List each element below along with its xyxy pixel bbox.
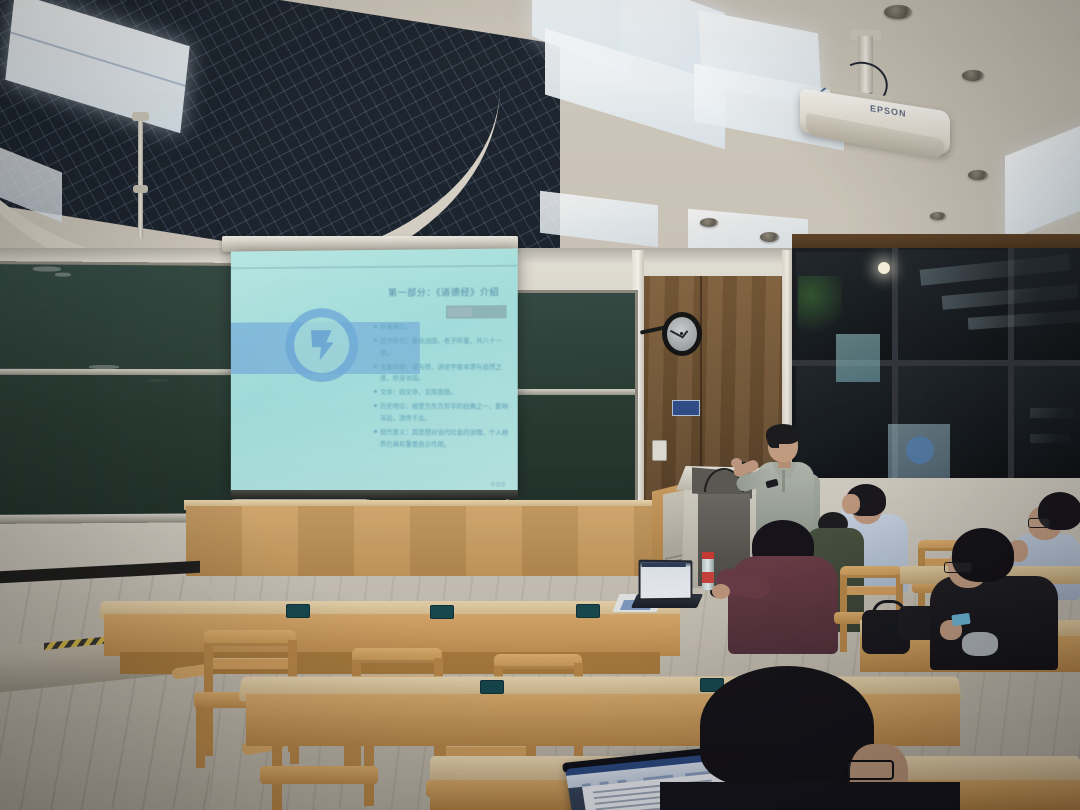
window-foliage	[798, 276, 842, 340]
slide-chip-label	[448, 307, 472, 316]
list-item: 作者简介。	[374, 321, 515, 333]
slide-footer: 道德经	[490, 481, 505, 488]
screen-hanger-rod-knob	[133, 185, 148, 193]
recessed-downlight-icon	[884, 5, 912, 19]
student-lightblue-hand	[842, 494, 860, 514]
slide-top-rule	[231, 265, 518, 270]
outdoor-lamp-icon	[878, 262, 890, 274]
glasses-icon	[1028, 518, 1050, 528]
window-wall	[792, 248, 1080, 478]
student-maroon-hand	[712, 584, 730, 599]
desk-power-outlet[interactable]	[480, 680, 504, 694]
list-item: 现代意义：其思想对当代社会的治理、个人修养仍具有重要启示作用。	[374, 427, 515, 452]
glasses-icon	[944, 562, 972, 573]
book-scroll-icon	[305, 328, 338, 362]
screen-hanger-rod	[138, 118, 143, 238]
window-pane	[1014, 366, 1080, 476]
light-switch[interactable]	[652, 440, 667, 461]
desk-power-outlet[interactable]	[286, 604, 310, 618]
recessed-downlight-icon	[968, 170, 988, 180]
recessed-downlight-icon	[700, 218, 718, 227]
window-slide-reflection	[836, 334, 880, 382]
list-item: 主要内容：道与德，讲述宇宙本源与自然之道，修身治国。	[374, 361, 515, 385]
cloth-item	[962, 632, 998, 656]
classroom-photo: EPSON	[0, 0, 1080, 810]
student-black-glasses-hair	[952, 528, 1014, 582]
clock-center-pin	[680, 332, 683, 335]
laptop-titlebar	[642, 563, 686, 567]
list-item: 成书年代：春秋战国，老子所著，共八十一章。	[374, 335, 515, 359]
slide-title: 第一部分：《道德经》介绍	[376, 285, 512, 299]
glasses-icon	[846, 760, 894, 780]
list-item: 文体：韵文体，言简意赅。	[374, 387, 515, 399]
water-bottle-label	[702, 572, 714, 583]
presenter-left-hand	[731, 458, 742, 468]
window-reflection	[1030, 434, 1070, 443]
projection-screen: 第一部分：《道德经》介绍 作者简介。 成书年代：春秋战国，老子所著，共八十一章。…	[231, 248, 518, 495]
recessed-downlight-icon	[760, 232, 779, 242]
presenter-hair-side	[767, 430, 779, 448]
recessed-downlight-icon	[930, 212, 946, 220]
ceiling-light-panel	[1005, 124, 1080, 241]
desk-power-outlet[interactable]	[430, 605, 454, 619]
window-reflection	[1030, 408, 1074, 418]
slide-logo-inner-circle	[294, 317, 349, 373]
screen-hanger-rod-cap	[132, 112, 149, 121]
student-laptop-torso	[660, 782, 960, 810]
slide-bullet-list: 作者简介。 成书年代：春秋战国，老子所著，共八十一章。 主要内容：道与德，讲述宇…	[374, 321, 515, 453]
desk-power-outlet[interactable]	[576, 604, 600, 618]
blackboard-right	[506, 290, 638, 508]
wall-sign-plate	[672, 400, 700, 416]
student-maroon-torso	[728, 556, 838, 654]
projection-screen-bottom-bar	[231, 490, 518, 499]
slide-logo	[285, 308, 358, 382]
window-pane	[796, 366, 892, 474]
blackboard-left	[0, 261, 235, 524]
presenter-placket	[782, 470, 785, 492]
water-bottle-cap	[702, 552, 714, 559]
window-slide-logo-reflection	[906, 436, 934, 464]
list-item: 历史地位：被誉为东方哲学的经典之一，影响深远，流传千古。	[374, 401, 515, 425]
recessed-downlight-icon	[962, 70, 984, 81]
